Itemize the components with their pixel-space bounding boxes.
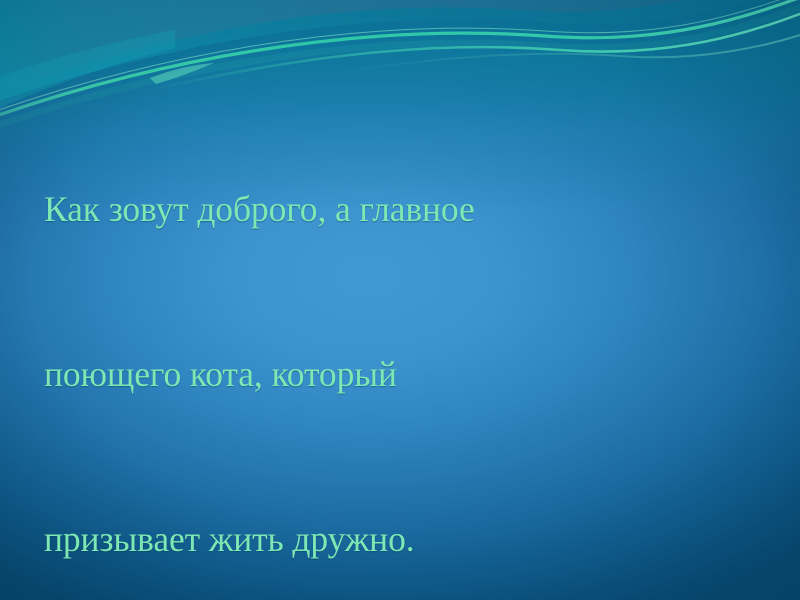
slide-body-text: Как зовут доброго, а главное поющего кот… (44, 72, 704, 600)
body-line-2: поющего кота, который (44, 347, 704, 402)
body-line-1: Как зовут доброго, а главное (44, 182, 704, 237)
presentation-slide: Как зовут доброго, а главное поющего кот… (0, 0, 800, 600)
body-line-3: призывает жить дружно. (44, 512, 704, 567)
